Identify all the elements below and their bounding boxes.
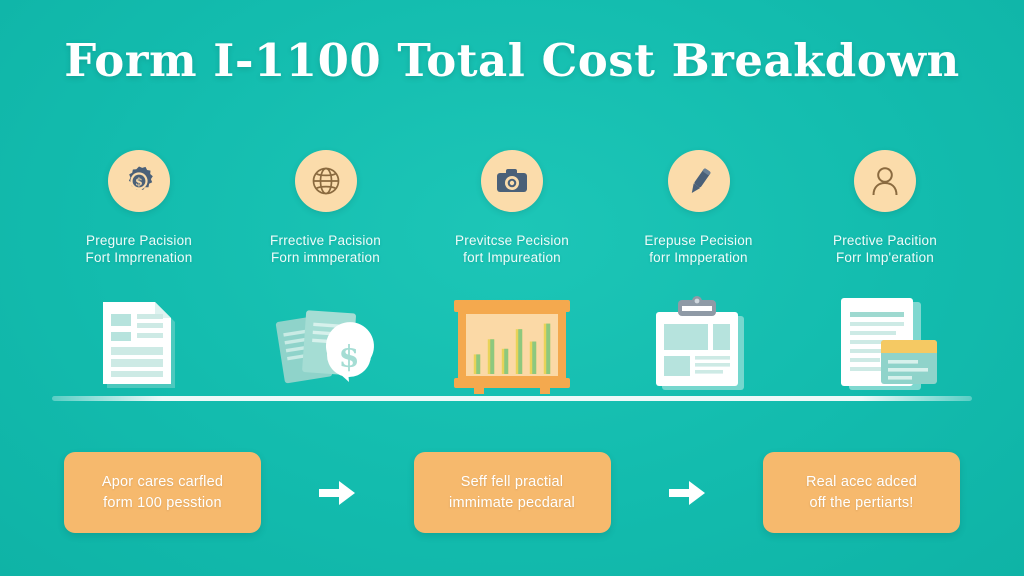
- illustration-1: [91, 288, 187, 396]
- clipboard-icon: [644, 294, 754, 396]
- step-3-line2: off the pertiarts!: [809, 493, 913, 514]
- illustration-4: [644, 288, 754, 396]
- column-label-3: Previtcse Pecision fort Impureation: [455, 232, 569, 266]
- icon-circle-2: [295, 150, 357, 212]
- papers-with-dollar-coin-icon: $: [270, 300, 382, 396]
- step-box-2[interactable]: Seff fell practial immimate pecdaral: [414, 452, 611, 533]
- column-label-2-line1: Frrective Pacision: [270, 233, 381, 248]
- arrow-right-icon-1: [313, 478, 361, 508]
- page-title: Form I-1100 Total Cost Breakdown: [0, 34, 1024, 87]
- column-label-5: Prective Pacition Forr Imp'eration: [833, 232, 937, 266]
- illustration-3: [444, 288, 580, 396]
- svg-text:$: $: [338, 340, 359, 375]
- icon-circle-5: [854, 150, 916, 212]
- bar-chart-board-icon: [444, 296, 580, 396]
- gear-dollar-icon: $: [121, 163, 157, 199]
- illustration-2: $: [270, 288, 382, 396]
- illustration-5: [823, 288, 947, 396]
- column-label-5-line1: Prective Pacition: [833, 233, 937, 248]
- icon-circle-3: [481, 150, 543, 212]
- column-4: Erepuse Pecision forr Impperation: [606, 150, 792, 396]
- title-container: Form I-1100 Total Cost Breakdown: [0, 34, 1024, 87]
- step-box-3[interactable]: Real acec adced off the pertiarts!: [763, 452, 960, 533]
- icon-circle-4: [668, 150, 730, 212]
- column-label-1-line2: Fort Imprrenation: [86, 249, 193, 266]
- column-1: $ Pregure Pacision Fort Imprrenation: [46, 150, 232, 396]
- steps-row: Apor cares carfled form 100 pesstion Sef…: [64, 452, 960, 533]
- step-3-line1: Real acec adced: [806, 472, 917, 493]
- step-2-line2: immimate pecdaral: [449, 493, 575, 514]
- column-label-3-line1: Previtcse Pecision: [455, 233, 569, 248]
- column-label-4-line1: Erepuse Pecision: [644, 233, 752, 248]
- column-2: Frrective Pacision Forn immperation: [233, 150, 419, 396]
- infographic-canvas: Form I-1100 Total Cost Breakdown $ Pregu…: [0, 0, 1024, 576]
- step-2-line1: Seff fell practial: [461, 472, 563, 493]
- document-icon: [91, 292, 187, 396]
- svg-text:$: $: [135, 175, 143, 188]
- column-5: Prective Pacition Forr Imp'eration: [792, 150, 978, 396]
- column-label-5-line2: Forr Imp'eration: [833, 249, 937, 266]
- arrow-right-icon-2: [663, 478, 711, 508]
- columns-row: $ Pregure Pacision Fort Imprrenation: [46, 150, 978, 396]
- section-divider: [52, 396, 972, 401]
- column-label-1: Pregure Pacision Fort Imprrenation: [86, 232, 193, 266]
- column-label-4-line2: forr Impperation: [644, 249, 752, 266]
- icon-circle-1: $: [108, 150, 170, 212]
- user-icon: [869, 164, 901, 198]
- column-label-1-line1: Pregure Pacision: [86, 233, 192, 248]
- pen-icon: [682, 164, 716, 198]
- camera-icon: [495, 166, 529, 196]
- column-label-4: Erepuse Pecision forr Impperation: [644, 232, 752, 266]
- documents-with-card-icon: [823, 292, 947, 396]
- step-box-1[interactable]: Apor cares carfled form 100 pesstion: [64, 452, 261, 533]
- step-1-line1: Apor cares carfled: [102, 472, 223, 493]
- column-label-2: Frrective Pacision Forn immperation: [270, 232, 381, 266]
- globe-icon: [309, 164, 343, 198]
- step-1-line2: form 100 pesstion: [103, 493, 222, 514]
- column-label-3-line2: fort Impureation: [455, 249, 569, 266]
- column-3: Previtcse Pecision fort Impureation: [419, 150, 605, 396]
- column-label-2-line2: Forn immperation: [270, 249, 381, 266]
